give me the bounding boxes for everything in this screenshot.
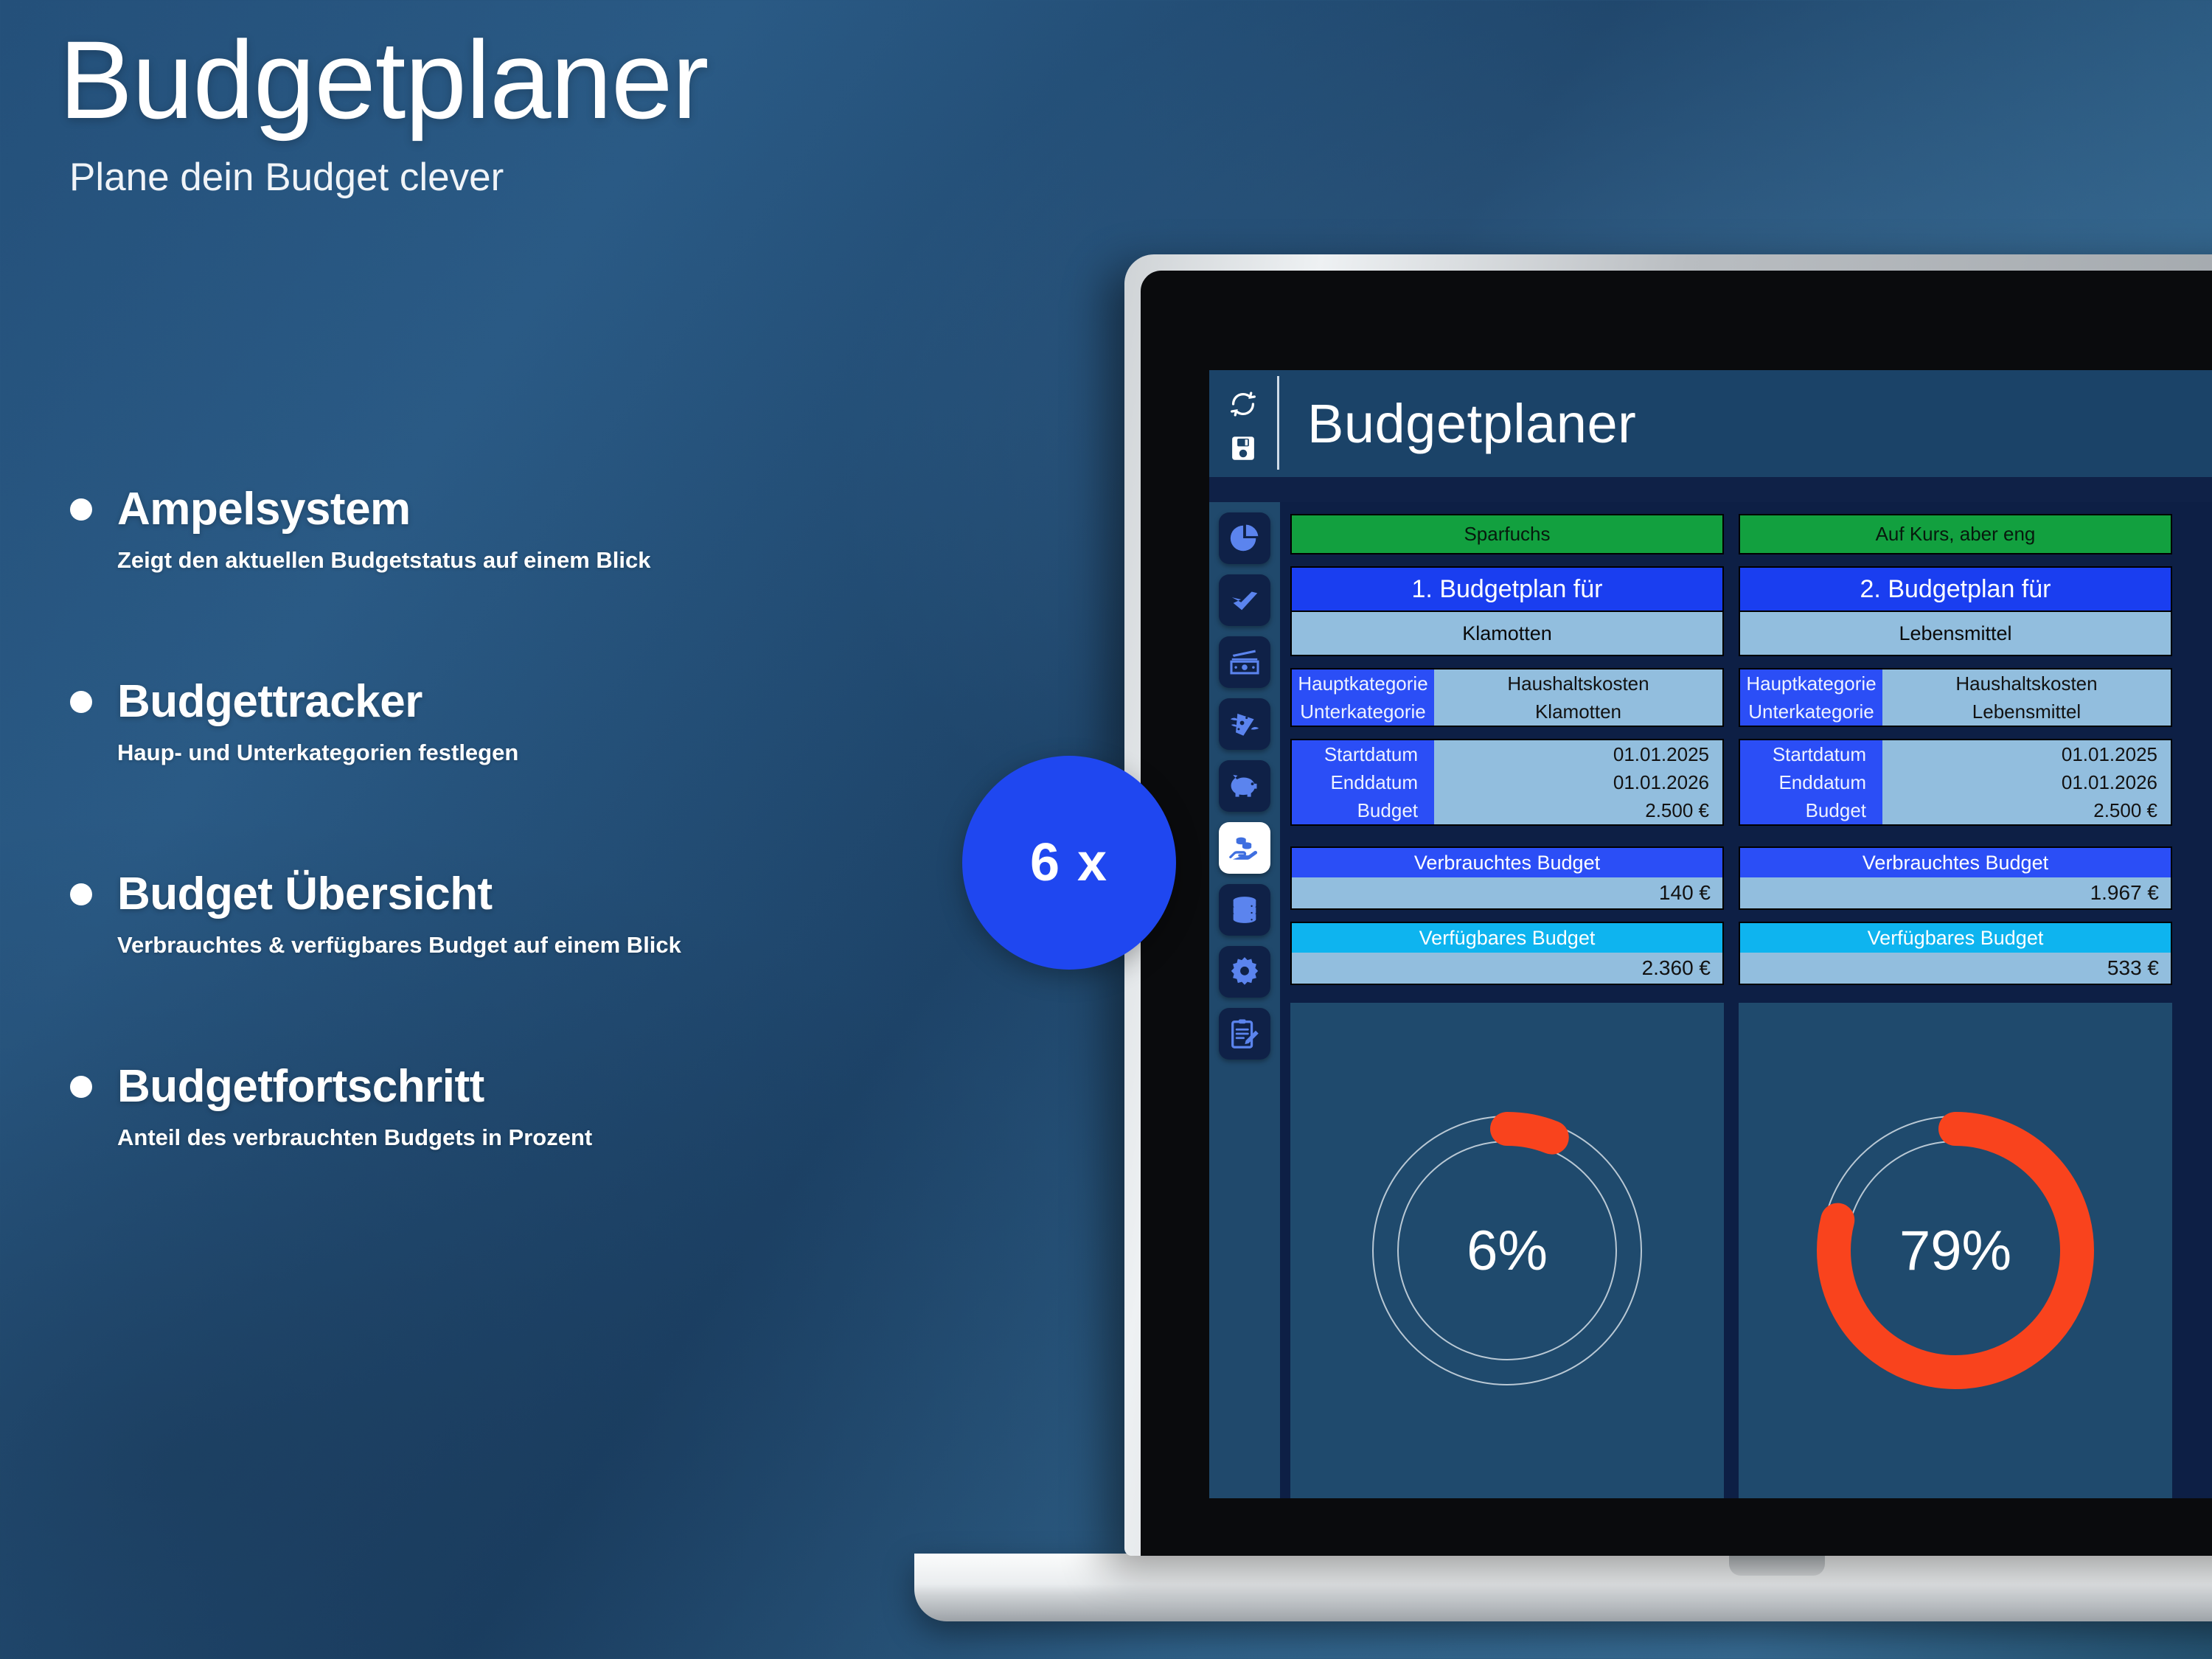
table-row: Haushaltskosten — [1882, 669, 2171, 698]
category-keys: Hauptkategorie Unterkategorie — [1740, 669, 1882, 726]
laptop-base-notch — [1729, 1554, 1825, 1576]
feature-title: Ampelsystem — [117, 483, 411, 535]
plan-title: 1. Budgetplan für — [1290, 566, 1724, 611]
feature-title: Budgettracker — [117, 675, 422, 728]
status-badge: Auf Kurs, aber eng — [1739, 514, 2172, 554]
feature-description: Haup- und Unterkategorien festlegen — [117, 740, 940, 766]
available-budget-meter: Verfügbares Budget 2.360 € — [1290, 922, 1724, 985]
feature-description: Zeigt den aktuellen Budgetstatus auf ein… — [117, 547, 940, 574]
feature-description: Verbrauchtes & verfügbares Budget auf ei… — [117, 932, 940, 959]
table-row: Budget — [1292, 796, 1434, 824]
bullet-icon — [70, 883, 92, 905]
table-row: 01.01.2025 — [1882, 740, 2171, 768]
sidebar-item-savings[interactable] — [1219, 760, 1270, 812]
feature-item: Budgettracker Haup- und Unterkategorien … — [70, 675, 940, 766]
progress-donut-panel: 6% — [1290, 1003, 1724, 1498]
pie-chart-icon — [1228, 521, 1262, 555]
sidebar-item-budget-plans[interactable] — [1219, 822, 1270, 874]
available-budget-value: 2.360 € — [1292, 953, 1722, 984]
feature-title: Budget Übersicht — [117, 868, 493, 920]
used-budget-value: 1.967 € — [1740, 877, 2171, 908]
used-budget-label: Verbrauchtes Budget — [1292, 848, 1722, 877]
sidebar-item-categories[interactable] — [1219, 574, 1270, 626]
app-body: Sparfuchs 1. Budgetplan für Klamotten Ha… — [1209, 502, 2212, 1498]
table-row: Enddatum — [1292, 768, 1434, 796]
laptop-mockup: Budgetplaner — [1124, 254, 2212, 1659]
refresh-icon[interactable] — [1226, 387, 1260, 421]
detail-values: 01.01.2025 01.01.2026 2.500 € — [1434, 740, 1722, 824]
app-header-icon-group — [1209, 370, 1277, 477]
header-band — [1209, 477, 2212, 502]
table-row: Haushaltskosten — [1434, 669, 1722, 698]
hand-coins-icon — [1228, 831, 1262, 865]
plan-title: 2. Budgetplan für — [1739, 566, 2172, 611]
cash-icon — [1228, 645, 1262, 679]
used-budget-value: 140 € — [1292, 877, 1722, 908]
detail-keys: Startdatum Enddatum Budget — [1292, 740, 1434, 824]
progress-donut: 6% — [1360, 1103, 1655, 1398]
brush-check-icon — [1228, 583, 1262, 617]
progress-percent: 79% — [1808, 1103, 2103, 1398]
app-sidebar — [1209, 502, 1280, 1498]
table-row: 2.500 € — [1434, 796, 1722, 824]
table-row: 2.500 € — [1882, 796, 2171, 824]
bullet-icon — [70, 498, 92, 521]
used-budget-meter: Verbrauchtes Budget 1.967 € — [1739, 846, 2172, 910]
feature-description: Anteil des verbrauchten Budgets in Proze… — [117, 1124, 940, 1151]
plan-subject: Lebensmittel — [1739, 611, 2172, 656]
detail-values: 01.01.2025 01.01.2026 2.500 € — [1882, 740, 2171, 824]
laptop-base — [914, 1554, 2212, 1621]
status-badge: Sparfuchs — [1290, 514, 1724, 554]
laptop-bezel: Budgetplaner — [1141, 271, 2212, 1556]
detail-table: Startdatum Enddatum Budget 01.01.2025 01… — [1290, 739, 1724, 826]
detail-keys: Startdatum Enddatum Budget — [1740, 740, 1882, 824]
progress-donut: 79% — [1808, 1103, 2103, 1398]
save-icon[interactable] — [1228, 433, 1259, 464]
table-row: 01.01.2026 — [1434, 768, 1722, 796]
sidebar-item-settings[interactable] — [1219, 946, 1270, 998]
app-header: Budgetplaner — [1209, 370, 2212, 477]
category-keys: Hauptkategorie Unterkategorie — [1292, 669, 1434, 726]
available-budget-value: 533 € — [1740, 953, 2171, 984]
flying-money-icon — [1228, 707, 1262, 741]
table-row: 01.01.2025 — [1434, 740, 1722, 768]
detail-table: Startdatum Enddatum Budget 01.01.2025 01… — [1739, 739, 2172, 826]
used-budget-meter: Verbrauchtes Budget 140 € — [1290, 846, 1724, 910]
table-row: Unterkategorie — [1292, 698, 1434, 726]
feature-list: Ampelsystem Zeigt den aktuellen Budgetst… — [70, 483, 940, 1151]
table-row: Startdatum — [1740, 740, 1882, 768]
available-budget-meter: Verfügbares Budget 533 € — [1739, 922, 2172, 985]
table-row: Hauptkategorie — [1292, 669, 1434, 698]
sidebar-item-reports[interactable] — [1219, 1008, 1270, 1060]
feature-item: Budgetfortschritt Anteil des verbrauchte… — [70, 1060, 940, 1151]
hero-block: Budgetplaner Plane dein Budget clever — [59, 22, 1018, 200]
bullet-icon — [70, 1076, 92, 1098]
available-budget-label: Verfügbares Budget — [1292, 923, 1722, 953]
table-row: Unterkategorie — [1740, 698, 1882, 726]
clipboard-edit-icon — [1228, 1017, 1262, 1051]
laptop-screen: Budgetplaner — [1209, 370, 2212, 1498]
sidebar-item-income[interactable] — [1219, 636, 1270, 688]
laptop-lid: Budgetplaner — [1124, 254, 2212, 1556]
available-budget-label: Verfügbares Budget — [1740, 923, 2171, 953]
feature-item: Budget Übersicht Verbrauchtes & verfügba… — [70, 868, 940, 959]
category-values: Haushaltskosten Klamotten — [1434, 669, 1722, 726]
gear-icon — [1228, 955, 1262, 989]
category-table: Hauptkategorie Unterkategorie Haushaltsk… — [1290, 668, 1724, 727]
budget-card: Sparfuchs 1. Budgetplan für Klamotten Ha… — [1290, 514, 1724, 1498]
budget-card: Auf Kurs, aber eng 2. Budgetplan für Leb… — [1739, 514, 2172, 1498]
table-row: 01.01.2026 — [1882, 768, 2171, 796]
feature-title: Budgetfortschritt — [117, 1060, 484, 1113]
used-budget-label: Verbrauchtes Budget — [1740, 848, 2171, 877]
sidebar-item-overview[interactable] — [1219, 512, 1270, 564]
category-values: Haushaltskosten Lebensmittel — [1882, 669, 2171, 726]
sidebar-item-expenses[interactable] — [1219, 698, 1270, 750]
table-row: Klamotten — [1434, 698, 1722, 726]
table-row: Lebensmittel — [1882, 698, 2171, 726]
plan-subject: Klamotten — [1290, 611, 1724, 656]
page-subtitle: Plane dein Budget clever — [69, 155, 1018, 200]
database-icon — [1228, 893, 1262, 927]
app-title: Budgetplaner — [1279, 370, 2212, 477]
sidebar-item-data[interactable] — [1219, 884, 1270, 936]
progress-percent: 6% — [1360, 1103, 1655, 1398]
category-table: Hauptkategorie Unterkategorie Haushaltsk… — [1739, 668, 2172, 727]
page-title: Budgetplaner — [59, 22, 1018, 139]
progress-donut-panel: 79% — [1739, 1003, 2172, 1498]
table-row: Budget — [1740, 796, 1882, 824]
piggy-bank-icon — [1228, 769, 1262, 803]
budget-app: Budgetplaner — [1209, 370, 2212, 1498]
table-row: Hauptkategorie — [1740, 669, 1882, 698]
budget-cards: Sparfuchs 1. Budgetplan für Klamotten Ha… — [1280, 502, 2212, 1498]
table-row: Startdatum — [1292, 740, 1434, 768]
table-row: Enddatum — [1740, 768, 1882, 796]
feature-item: Ampelsystem Zeigt den aktuellen Budgetst… — [70, 483, 940, 574]
quantity-badge: 6 x — [962, 756, 1176, 970]
bullet-icon — [70, 691, 92, 713]
